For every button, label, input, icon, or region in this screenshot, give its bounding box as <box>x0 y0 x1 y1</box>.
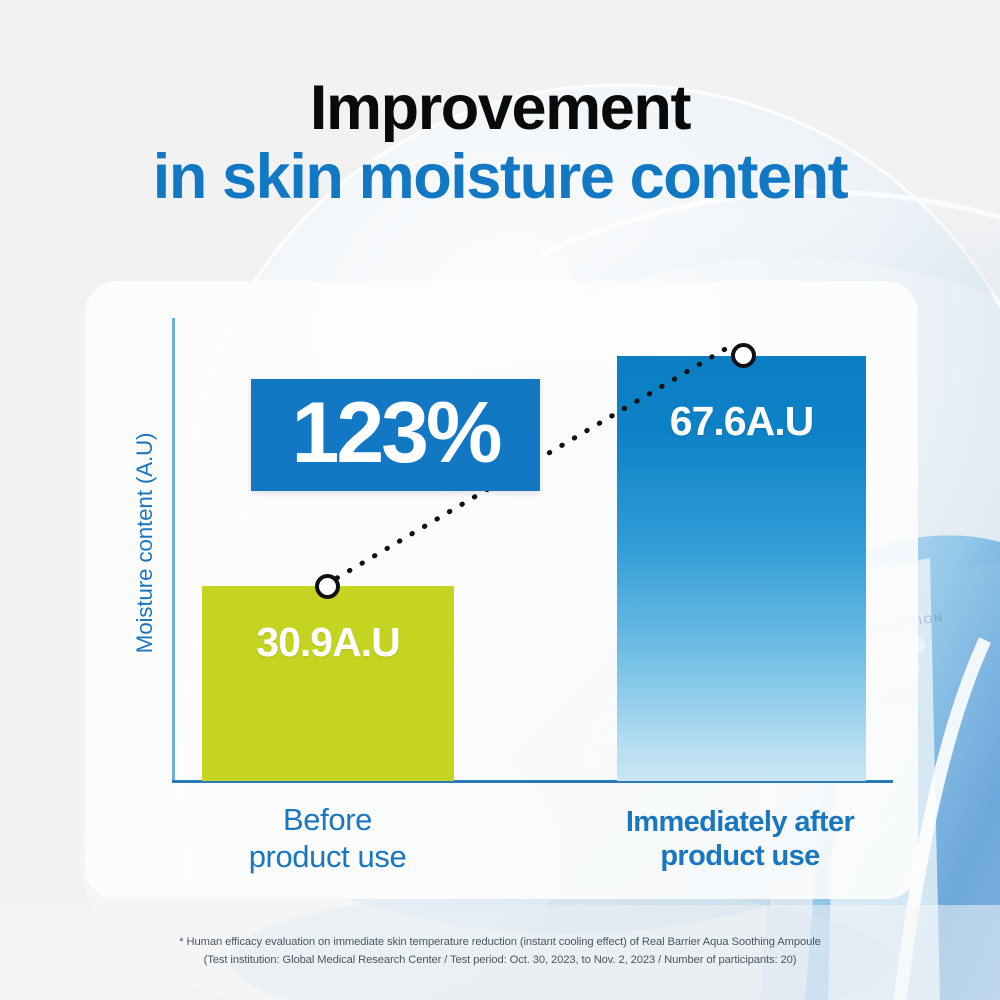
data-point-marker-after <box>731 343 756 368</box>
footnote-line-2: (Test institution: Global Medical Resear… <box>0 951 1000 969</box>
footnote: * Human efficacy evaluation on immediate… <box>0 933 1000 969</box>
x-axis-label-before-line1: Before <box>175 802 480 839</box>
bar-value-before: 30.9A.U <box>202 619 454 666</box>
footnote-line-1: * Human efficacy evaluation on immediate… <box>179 936 820 948</box>
data-point-marker-before <box>315 574 340 599</box>
bar-before <box>202 586 454 781</box>
x-axis-label-before: Before product use <box>175 802 480 875</box>
improvement-badge-value: 123% <box>292 390 500 476</box>
bar-value-after: 67.6A.U <box>617 398 866 445</box>
x-axis-label-after-line1: Immediately after <box>585 805 895 839</box>
x-axis-label-after: Immediately after product use <box>585 805 895 873</box>
x-axis-label-after-line2: product use <box>585 839 895 873</box>
improvement-badge: 123% <box>251 379 540 491</box>
bar-chart: Moisture content (A.U) 30.9A.U 67.6A.U 1… <box>0 0 1000 1000</box>
y-axis-line <box>172 318 175 783</box>
y-axis-label: Moisture content (A.U) <box>132 393 158 693</box>
x-axis-label-before-line2: product use <box>175 839 480 876</box>
